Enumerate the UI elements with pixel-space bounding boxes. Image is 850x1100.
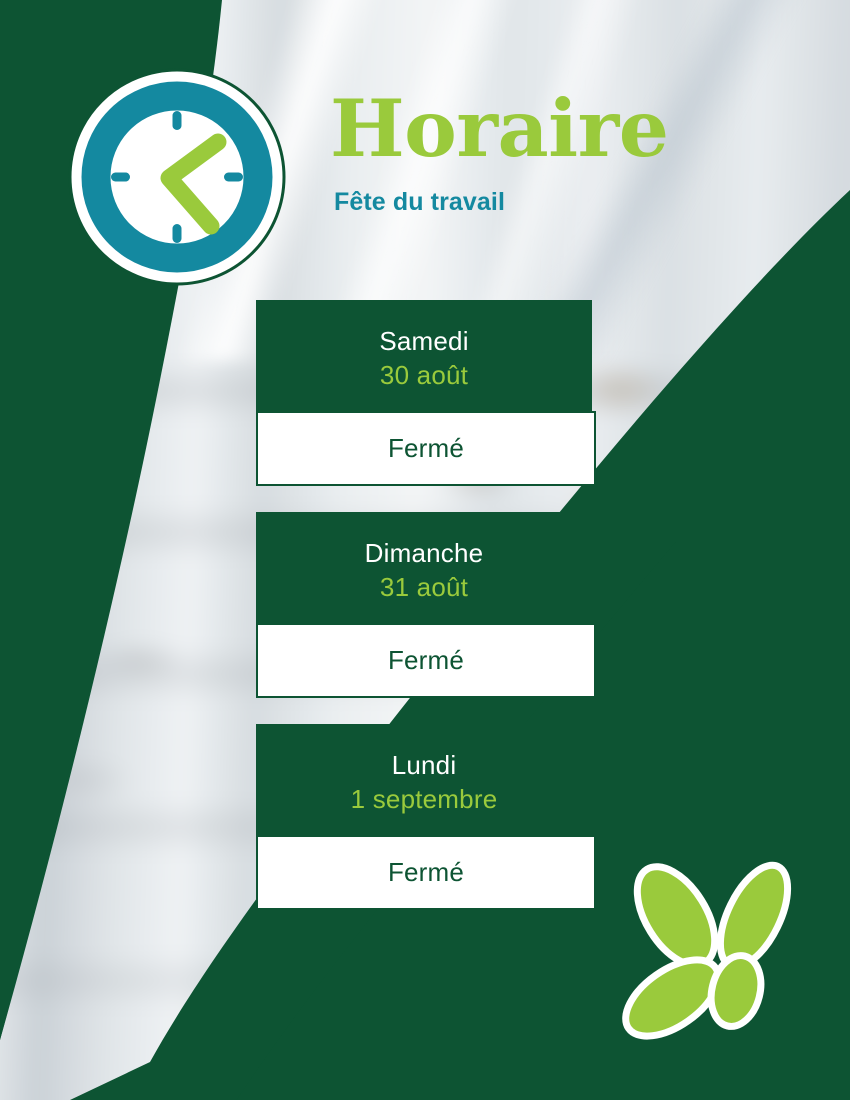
page-subtitle: Fête du travail bbox=[334, 187, 810, 217]
schedule-card-status-wrapper: Fermé bbox=[256, 835, 596, 910]
schedule-card: Samedi 30 août Fermé bbox=[256, 300, 592, 486]
schedule-card-status-wrapper: Fermé bbox=[256, 623, 596, 698]
butterfly-logo-icon bbox=[614, 858, 824, 1058]
schedule-card-header: Samedi 30 août bbox=[256, 300, 592, 411]
schedule-card-date: 30 août bbox=[266, 360, 582, 391]
page-title: Horaire bbox=[330, 88, 810, 170]
schedule-card-body: Fermé bbox=[256, 835, 596, 910]
schedule-card-day: Dimanche bbox=[266, 538, 582, 569]
schedule-card-list: Samedi 30 août Fermé Dimanche 31 août Fe… bbox=[256, 300, 592, 936]
clock-icon bbox=[68, 68, 286, 286]
schedule-card: Lundi 1 septembre Fermé bbox=[256, 724, 592, 910]
schedule-card-day: Lundi bbox=[266, 750, 582, 781]
status-badge: Fermé bbox=[388, 645, 464, 675]
schedule-card-header: Dimanche 31 août bbox=[256, 512, 592, 623]
schedule-card-body: Fermé bbox=[256, 411, 596, 486]
schedule-card-body: Fermé bbox=[256, 623, 596, 698]
schedule-card-day: Samedi bbox=[266, 326, 582, 357]
schedule-card-status-wrapper: Fermé bbox=[256, 411, 596, 486]
schedule-poster: Horaire Fête du travail Samedi 30 août F… bbox=[0, 0, 850, 1100]
status-badge: Fermé bbox=[388, 433, 464, 463]
poster-heading: Horaire Fête du travail bbox=[330, 88, 810, 217]
schedule-card-date: 1 septembre bbox=[266, 784, 582, 815]
status-badge: Fermé bbox=[388, 857, 464, 887]
schedule-card-header: Lundi 1 septembre bbox=[256, 724, 592, 835]
schedule-card: Dimanche 31 août Fermé bbox=[256, 512, 592, 698]
schedule-card-date: 31 août bbox=[266, 572, 582, 603]
